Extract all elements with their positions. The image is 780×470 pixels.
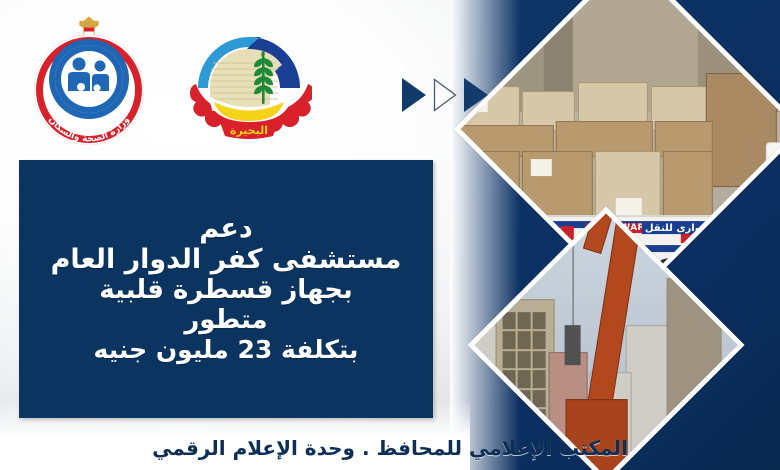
footer: المكتب الإعلامي للمحافظ . وحدة الإعلام ا… xyxy=(0,436,780,460)
footer-credit-text: المكتب الإعلامي للمحافظ . وحدة الإعلام ا… xyxy=(152,436,628,460)
arrow-right-outline-icon xyxy=(433,78,457,112)
arrow-right-filled-icon xyxy=(402,78,426,112)
headline-line-2: مستشفى كفر الدوار العام xyxy=(51,245,402,275)
family-icon xyxy=(55,43,123,115)
arrow-right-filled-icon-2 xyxy=(464,78,488,112)
decorative-arrow-group xyxy=(402,78,488,112)
headline-line-5: بتكلفة 23 مليون جنيه xyxy=(94,336,359,364)
poster-root: EL HAWARY الهوارى للنقل xyxy=(0,0,780,470)
ministry-of-health-and-population-logo: Ministry of Health & Population وزارة ال… xyxy=(30,15,148,149)
beheira-logo-text-ar: البحيرة xyxy=(230,124,268,137)
beheira-emblem-icon: البحيرة xyxy=(186,18,312,146)
headline-panel: دعم مستشفى كفر الدوار العام بجهاز قسطرة … xyxy=(19,160,433,418)
headline-line-3: بجهاز قسطرة قلبية xyxy=(99,276,352,305)
beheira-governorate-logo: البحيرة xyxy=(186,18,312,146)
logo-row: Ministry of Health & Population وزارة ال… xyxy=(30,12,330,152)
headline-line-4: متطور xyxy=(184,306,267,335)
headline-line-1: دعم xyxy=(199,214,252,244)
